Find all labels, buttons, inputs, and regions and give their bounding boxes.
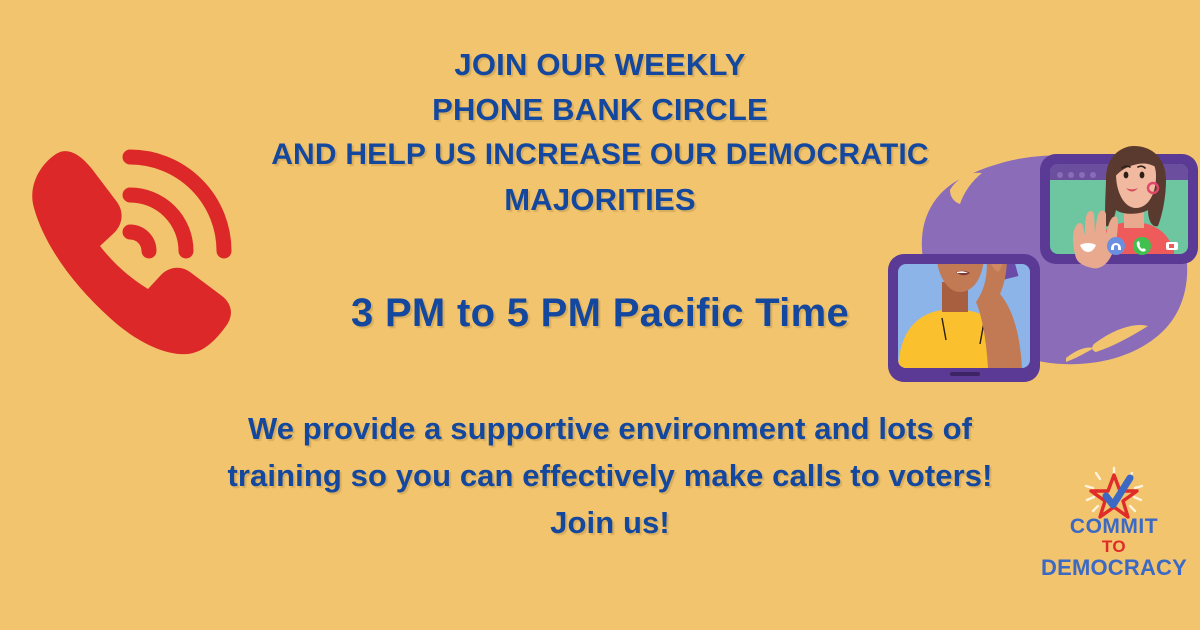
logo-wordmark: COMMIT TO DEMOCRACY bbox=[1034, 516, 1194, 579]
video-camera-button bbox=[1166, 242, 1178, 250]
answer-call-button bbox=[1133, 237, 1151, 255]
logo-word-commit: COMMIT bbox=[1034, 516, 1194, 537]
headline-line-3: AND HELP US INCREASE OUR DEMOCRATIC bbox=[210, 132, 990, 177]
logo-word-democracy: DEMOCRACY bbox=[1034, 557, 1194, 579]
logo-word-to: TO bbox=[1034, 538, 1194, 555]
body-line-1: We provide a supportive environment and … bbox=[150, 405, 1070, 452]
headset-button bbox=[1107, 237, 1125, 255]
headline-line-4: MAJORITIES bbox=[210, 177, 990, 222]
commit-to-democracy-logo[interactable]: COMMIT TO DEMOCRACY bbox=[1034, 466, 1194, 588]
body-line-2: training so you can effectively make cal… bbox=[150, 452, 1070, 499]
body-copy-block: We provide a supportive environment and … bbox=[150, 405, 1070, 546]
video-call-illustration bbox=[880, 132, 1200, 400]
headline-block: JOIN OUR WEEKLY PHONE BANK CIRCLE AND HE… bbox=[210, 42, 990, 222]
tablet-video-call bbox=[1040, 146, 1198, 268]
home-indicator bbox=[950, 372, 980, 376]
star-check-emblem-icon bbox=[1078, 466, 1150, 520]
headline-line-1: JOIN OUR WEEKLY bbox=[210, 42, 990, 87]
body-line-3: Join us! bbox=[150, 499, 1070, 546]
schedule-time-text: 3 PM to 5 PM Pacific Time bbox=[210, 288, 990, 338]
poster-canvas: JOIN OUR WEEKLY PHONE BANK CIRCLE AND HE… bbox=[0, 0, 1200, 630]
headline-line-2: PHONE BANK CIRCLE bbox=[210, 87, 990, 132]
